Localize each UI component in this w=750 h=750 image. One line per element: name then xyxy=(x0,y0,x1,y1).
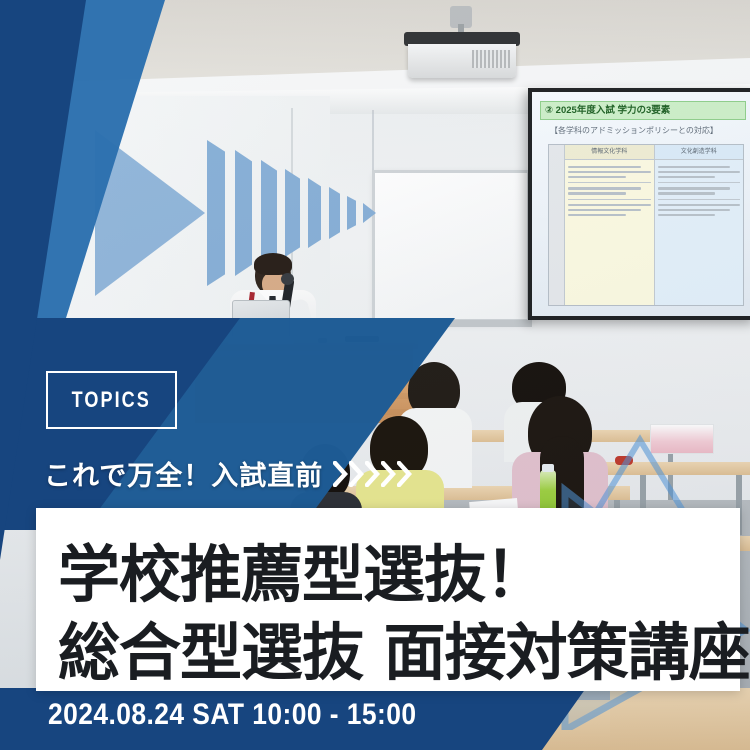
chevron-right-icon xyxy=(349,461,364,487)
chevron-group xyxy=(333,461,412,487)
topics-poster: ② 2025年度入試 学力の3要素 【各学科のアドミッションポリシーとの対応】 … xyxy=(0,0,750,750)
title-line-1: 学校推薦型選抜！ xyxy=(58,524,546,614)
chevron-right-icon xyxy=(333,461,348,487)
topics-badge: TOPICS xyxy=(46,371,177,429)
topics-label: TOPICS xyxy=(72,387,151,413)
chevron-right-icon xyxy=(397,461,412,487)
tagline-row: これで万全！入試直前 xyxy=(44,454,412,493)
title-panel: 学校推薦型選抜！ 総合型選抜 面接対策講座！ xyxy=(36,508,740,691)
title-line-2: 総合型選抜 面接対策講座！ xyxy=(58,602,750,692)
tagline-text: これで万全！入試直前 xyxy=(44,454,323,493)
chevron-right-icon xyxy=(381,461,396,487)
chevron-right-icon xyxy=(365,461,380,487)
event-datetime: 2024.08.24 SAT 10:00 - 15:00 xyxy=(48,698,416,732)
